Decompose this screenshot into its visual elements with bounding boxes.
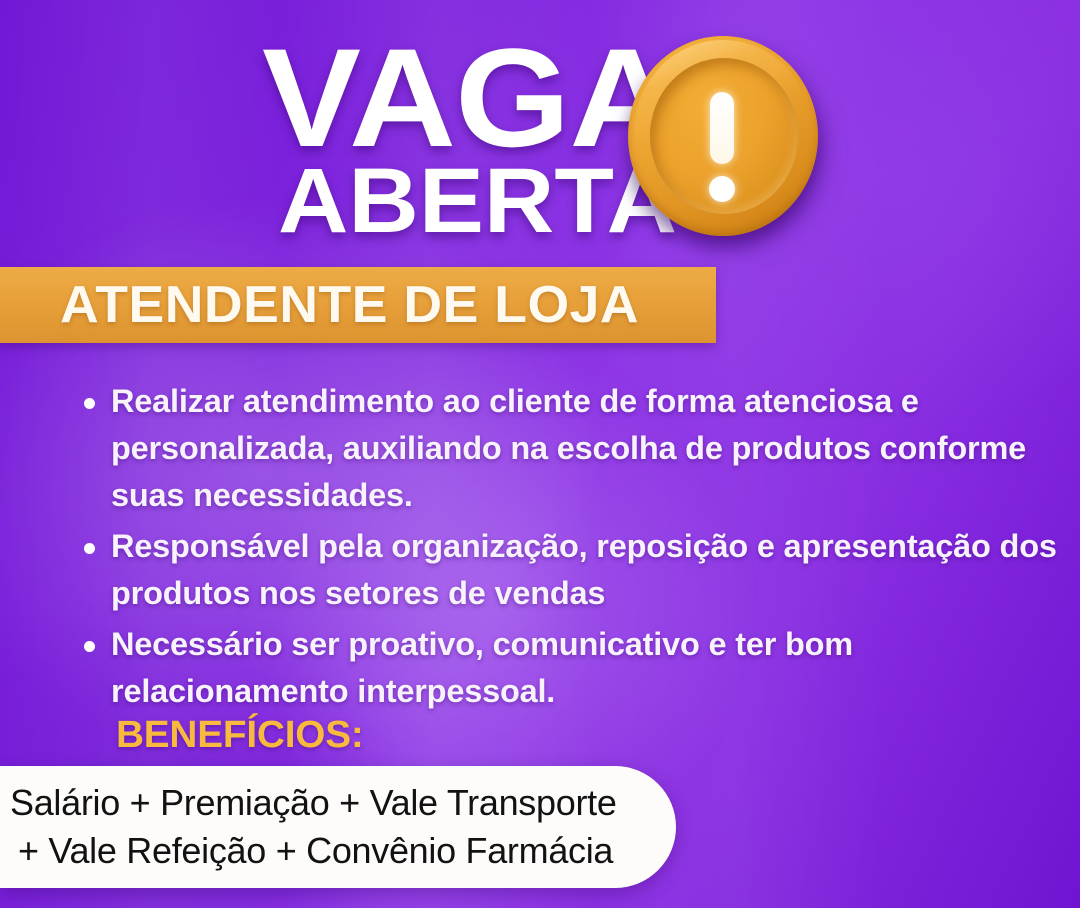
bullet-dot-icon — [84, 398, 95, 409]
responsibilities-list: Realizar atendimento ao cliente de forma… — [84, 378, 1064, 719]
list-item: Necessário ser proativo, comunicativo e … — [84, 621, 1064, 715]
exclamation-dot-icon — [709, 176, 735, 202]
responsibility-text: Responsável pela organização, reposição … — [111, 523, 1064, 617]
headline-vaga: VAGA — [262, 28, 675, 168]
exclamation-mark-coin-icon — [628, 36, 824, 248]
list-item: Realizar atendimento ao cliente de forma… — [84, 378, 1064, 519]
exclamation-stem-icon — [710, 92, 734, 164]
list-item: Responsável pela organização, reposição … — [84, 523, 1064, 617]
benefits-line-2: + Vale Refeição + Convênio Farmácia — [0, 827, 676, 875]
headline-aberta: ABERTA — [278, 155, 677, 247]
responsibility-text: Realizar atendimento ao cliente de forma… — [111, 378, 1064, 519]
benefits-line-1: Salário + Premiação + Vale Transporte — [0, 779, 676, 827]
job-vacancy-poster: VAGA ABERTA ATENDENTE DE LOJA Realizar a… — [0, 0, 1080, 908]
benefits-card: Salário + Premiação + Vale Transporte + … — [0, 766, 676, 888]
bullet-dot-icon — [84, 543, 95, 554]
responsibility-text: Necessário ser proativo, comunicativo e … — [111, 621, 1064, 715]
benefits-heading: BENEFÍCIOS: — [116, 714, 364, 757]
bullet-dot-icon — [84, 641, 95, 652]
job-title-banner: ATENDENTE DE LOJA — [0, 267, 716, 343]
headline-block: VAGA ABERTA — [0, 0, 1080, 260]
job-title-text: ATENDENTE DE LOJA — [60, 275, 639, 335]
